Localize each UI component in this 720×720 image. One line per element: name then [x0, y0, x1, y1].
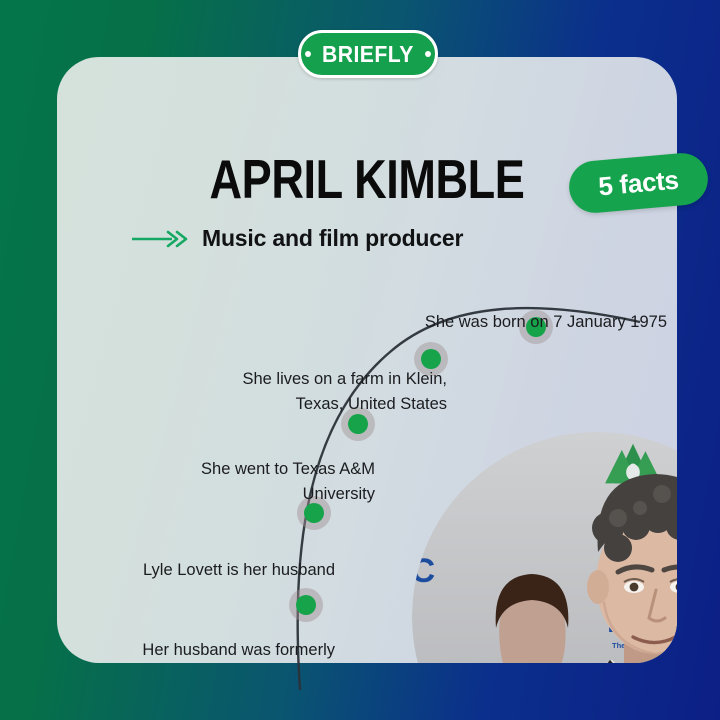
bullet-dot-icon [425, 51, 431, 57]
brand-name: BRIEFLY [322, 41, 414, 68]
subtitle-row: Music and film producer [132, 225, 463, 252]
content-card: APRIL KIMBLE Music and film producer [57, 57, 677, 663]
portrait-photo: NRDC The Earth's Best Defense NRDC [412, 432, 677, 663]
subtitle-text: Music and film producer [202, 225, 463, 252]
arrow-right-double-chevron-icon [132, 230, 190, 248]
bullet-dot-icon [305, 51, 311, 57]
svg-text:NRDC: NRDC [412, 552, 435, 590]
brand-badge[interactable]: BRIEFLY [298, 30, 438, 78]
fact-item: She lives on a farm in Klein, Texas, Uni… [167, 367, 447, 417]
fact-item: She was born on 7 January 1975 [317, 310, 667, 335]
page-title: APRIL KIMBLE [113, 150, 621, 208]
fact-item: Lyle Lovett is her husband [77, 558, 335, 583]
infographic-canvas: APRIL KIMBLE Music and film producer [0, 0, 720, 720]
facts-count-badge: 5 facts [567, 151, 710, 215]
fact-item: She went to Texas A&M University [117, 457, 375, 507]
facts-count-label: 5 facts [597, 164, 680, 202]
fact-item: Her husband was formerly married to Juli… [67, 638, 335, 663]
